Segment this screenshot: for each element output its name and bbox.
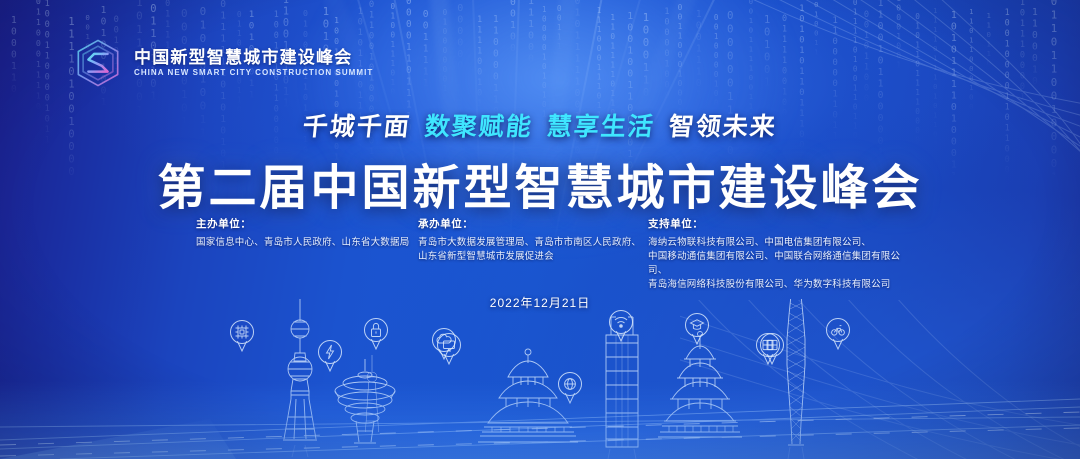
binary-column: 1000110 bbox=[8, 15, 18, 96]
binary-column: 111000 bbox=[526, 0, 536, 65]
globe-icon bbox=[555, 369, 585, 407]
binary-column: 001100010001 bbox=[674, 3, 684, 117]
organizer-column-0: 主办单位：国家信息中心、青岛市人民政府、山东省大数据局 bbox=[196, 219, 418, 250]
building-icon bbox=[757, 330, 787, 368]
organizer-line: 山东省新型智慧城市发展促进会 bbox=[418, 250, 648, 264]
tagline-phrase-2: 慧享生活 bbox=[545, 107, 657, 143]
binary-column: 001011000 bbox=[862, 10, 872, 105]
binary-column: 01100011110 bbox=[33, 0, 43, 112]
binary-column: 1000110 bbox=[641, 12, 651, 100]
binary-column: 100001000 bbox=[662, 7, 672, 102]
organizer-line: 国家信息中心、青岛市人民政府、山东省大数据局 bbox=[196, 236, 418, 250]
binary-column: 0111100100 bbox=[779, 13, 789, 118]
ground-glow bbox=[0, 381, 1080, 459]
binary-column: 010011 bbox=[811, 0, 821, 57]
binary-column: 0100000010 bbox=[439, 8, 449, 103]
binary-column: 00100 bbox=[507, 0, 517, 54]
summit-title: 第二届中国新型智慧城市建设峰会 bbox=[0, 148, 1080, 218]
summit-tagline: 千城千面数聚赋能慧享生活智领未来 bbox=[0, 107, 1080, 143]
binary-column: 0011111 bbox=[420, 9, 430, 90]
logo-title-cn: 中国新型智慧城市建设峰会 bbox=[134, 49, 373, 66]
binary-column: 000000111000 bbox=[725, 9, 735, 171]
binary-column: 0010000100 bbox=[711, 13, 721, 108]
hexagonal-s-monogram-icon bbox=[74, 38, 122, 88]
logo-title-en: CHINA NEW SMART CITY CONSTRUCTION SUMMIT bbox=[134, 69, 373, 77]
organizer-heading: 支持单位： bbox=[648, 219, 908, 230]
organizer-line: 中国移动通信集团有限公司、中国联合网络通信集团有限公司、 bbox=[648, 250, 908, 278]
tagline-phrase-1: 数聚赋能 bbox=[423, 107, 535, 143]
mesh-lines-bottom-right bbox=[680, 300, 1080, 459]
city-skyline-wireframe bbox=[0, 299, 1080, 459]
display-icon bbox=[434, 330, 464, 368]
binary-column: 101001 bbox=[762, 14, 772, 89]
lock-icon bbox=[361, 315, 391, 353]
binary-column: 110000110 bbox=[490, 14, 500, 118]
summit-poster: 1000110011000111101000110000101111110100… bbox=[0, 0, 1080, 459]
organizer-column-2: 支持单位：海纳云物联科技有限公司、中国电信集团有限公司、中国移动通信集团有限公司… bbox=[648, 219, 908, 292]
binary-column: 111100101 bbox=[475, 14, 485, 109]
organizer-line: 海纳云物联科技有限公司、中国电信集团有限公司、 bbox=[648, 236, 908, 250]
organizer-column-1: 承办单位：青岛市大数据发展管理局、青岛市市南区人民政府、山东省新型智慧城市发展促… bbox=[418, 219, 648, 264]
chip-icon bbox=[227, 317, 257, 355]
organizer-heading: 主办单位： bbox=[196, 219, 418, 230]
tagline-phrase-3: 智领未来 bbox=[667, 107, 779, 143]
wifi-icon bbox=[606, 307, 636, 345]
tagline-phrase-0: 千城千面 bbox=[301, 107, 413, 143]
binary-column: 10011101 bbox=[693, 9, 703, 101]
organizer-line: 青岛市大数据发展管理局、青岛市市南区人民政府、 bbox=[418, 236, 648, 250]
organizer-heading: 承办单位： bbox=[418, 219, 648, 230]
graduation-icon bbox=[682, 310, 712, 348]
binary-column: 0100111010 bbox=[387, 2, 397, 97]
binary-column: 11011000100 bbox=[966, 7, 976, 112]
oriental-pearl-tower bbox=[283, 299, 317, 440]
binary-column: 110110 bbox=[983, 11, 993, 68]
summit-logo[interactable]: 中国新型智慧城市建设峰会 CHINA NEW SMART CITY CONSTR… bbox=[74, 38, 373, 88]
summit-date: 2022年12月21日 bbox=[0, 294, 1080, 311]
binary-column: 1100010 bbox=[1029, 7, 1039, 88]
binary-column: 10001001 bbox=[893, 0, 903, 70]
canton-tower bbox=[787, 299, 805, 445]
binary-column: 00111 bbox=[554, 4, 564, 52]
organizer-columns: 主办单位：国家信息中心、青岛市人民政府、山东省大数据局承办单位：青岛市大数据发展… bbox=[196, 219, 908, 292]
binary-column: 000000 bbox=[455, 3, 465, 72]
organizer-line: 青岛海信网络科技股份有限公司、华为数字科技有限公司 bbox=[648, 278, 908, 292]
binary-column: 10111000010 bbox=[1017, 0, 1027, 113]
tianjin-radio-tower bbox=[365, 355, 378, 432]
bike-icon bbox=[823, 315, 853, 353]
lightning-icon bbox=[315, 337, 345, 375]
